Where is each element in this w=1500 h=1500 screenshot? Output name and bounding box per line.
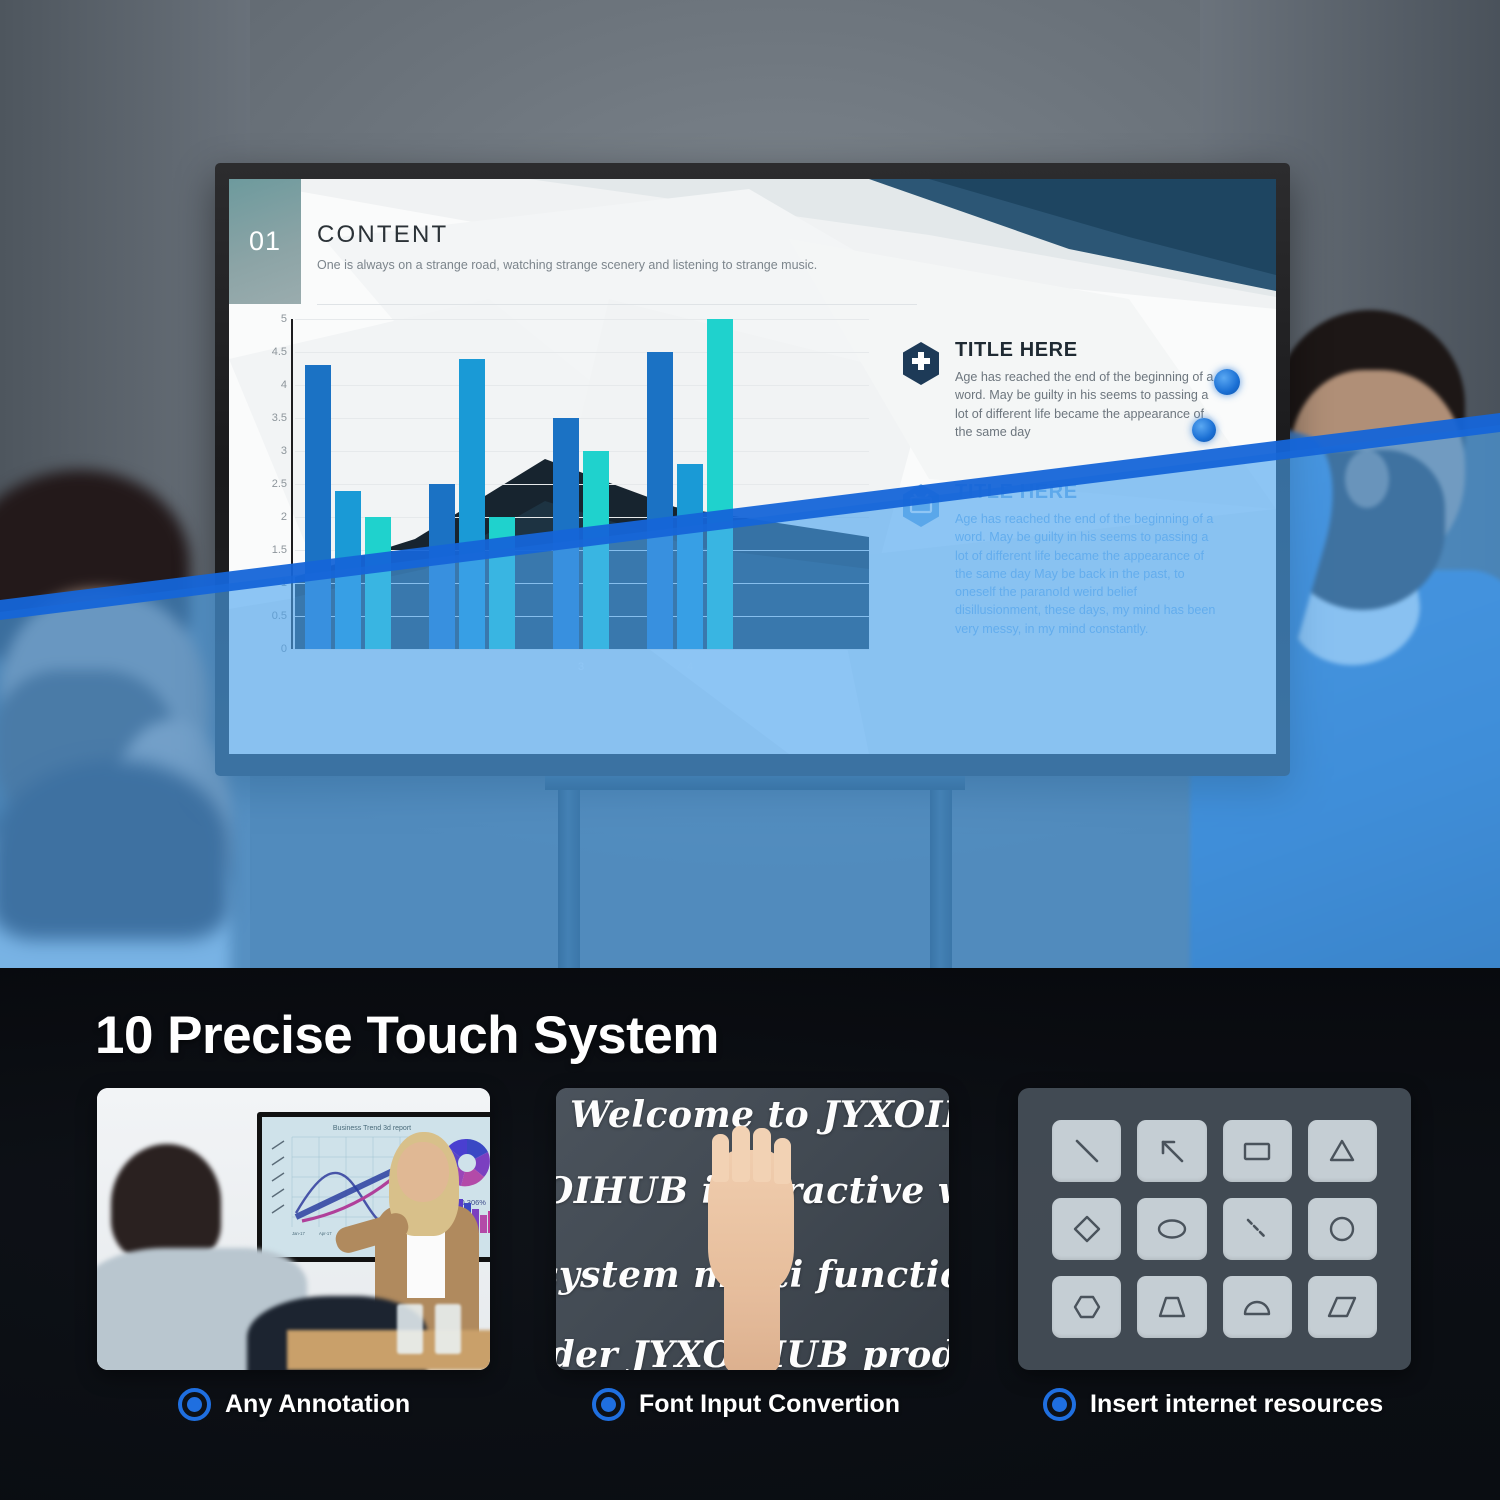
hexagon-plus-icon [901,341,941,386]
text-block-1: TITLE HERE Age has reached the end of th… [901,339,1221,441]
y-axis-tick: 0.5 [272,610,287,622]
display-stand-leg-right [930,776,952,968]
slide-header: CONTENT One is always on a strange road,… [317,221,917,274]
ellipse-icon[interactable] [1137,1198,1206,1260]
y-axis-line [291,319,293,649]
water-glass-2 [435,1304,461,1354]
text-block-2-title: TITLE HERE [955,481,1221,504]
meeting-room-photo: Business Trend 3d report [97,1088,490,1370]
header-divider [317,304,917,305]
finger-2 [732,1126,750,1182]
touch-point-indicator-2 [1192,418,1216,442]
slide-title: CONTENT [317,221,917,249]
finger-3 [753,1128,771,1182]
chart-plot-area [295,319,869,649]
line-icon[interactable] [1052,1120,1121,1182]
hexagon-icon[interactable] [1052,1276,1121,1338]
y-axis-tick: 4 [281,379,287,391]
grid-line [295,352,869,353]
svg-text:Business Trend 3d report: Business Trend 3d report [333,1125,411,1132]
chart-bar [707,319,733,649]
x-axis-tick: 4 [687,661,693,673]
text-block-2-body: Age has reached the end of the beginning… [955,510,1221,638]
whiteboard-surface[interactable]: Welcome to JYXOIHUB OIHUB interactive wh… [556,1088,949,1370]
caption-any-annotation: Any Annotation [178,1388,410,1421]
chart-bar [335,491,361,649]
presenter-face [397,1142,449,1202]
radio-dot-icon [1043,1388,1076,1421]
chart-bar [647,352,673,649]
text-block-1-body: Age has reached the end of the beginning… [955,368,1221,441]
grid-line [295,418,869,419]
caption-1-label: Any Annotation [225,1390,410,1419]
y-axis-tick: 1 [281,577,287,589]
shape-grid[interactable] [1052,1120,1377,1338]
water-glass-1 [397,1304,423,1354]
y-axis-tick: 2 [281,511,287,523]
caption-3-label: Insert internet resources [1090,1390,1383,1419]
chart-bar [459,359,485,649]
feature-card-annotation[interactable]: Business Trend 3d report [97,1088,490,1370]
chart-bar [583,451,609,649]
bar-chart: 00.511.522.533.544.55 34 [249,319,869,689]
hexagon-monitor-icon [901,483,941,528]
conference-room-scene: 01 CONTENT One is always on a strange ro… [0,0,1500,968]
interactive-flat-panel-display[interactable]: 01 CONTENT One is always on a strange ro… [215,163,1290,776]
triangle-icon[interactable] [1308,1120,1377,1182]
slide-number-block: 01 [229,179,301,304]
y-axis-tick: 2.5 [272,478,287,490]
shape-toolbar[interactable] [1018,1088,1411,1370]
trapezoid-icon[interactable] [1137,1276,1206,1338]
slide-subtitle: One is always on a strange road, watchin… [317,256,917,274]
grid-line [295,319,869,320]
chart-bar [677,464,703,649]
feature-cards: Business Trend 3d report [0,1088,1500,1378]
feature-captions: Any Annotation Font Input Convertion Ins… [0,1388,1500,1448]
y-axis-tick: 3.5 [272,412,287,424]
caption-internet-resources: Insert internet resources [1043,1388,1383,1421]
finger-4 [774,1138,791,1184]
dashed-line-icon[interactable] [1223,1198,1292,1260]
feature-card-handwriting[interactable]: Welcome to JYXOIHUB OIHUB interactive wh… [556,1088,949,1370]
promo-headline: 10 Precise Touch System [95,1005,719,1066]
seated-attendee-head [111,1144,221,1262]
radio-dot-icon [178,1388,211,1421]
x-axis-tick: 3 [578,661,584,673]
diamond-icon[interactable] [1052,1198,1121,1260]
grid-line [295,385,869,386]
semicircle-icon[interactable] [1223,1276,1292,1338]
chart-bar [489,517,515,649]
display-screen[interactable]: 01 CONTENT One is always on a strange ro… [229,179,1276,754]
circle-icon[interactable] [1308,1198,1377,1260]
radio-dot-icon [592,1388,625,1421]
rectangle-icon[interactable] [1223,1120,1292,1182]
chart-bar [429,484,455,649]
y-axis-tick: 0 [281,643,287,655]
feature-card-shapes[interactable] [1018,1088,1411,1370]
display-stand-leg-left [558,776,580,968]
y-axis-tick: 3 [281,445,287,457]
slide-number: 01 [249,226,281,257]
chart-y-axis: 00.511.522.533.544.55 [249,319,291,649]
chart-bar [365,517,391,649]
audience-member-left-2 [0,760,260,968]
slide-text-column: TITLE HERE Age has reached the end of th… [901,339,1221,678]
presentation-slide: 01 CONTENT One is always on a strange ro… [229,179,1276,754]
chart-bar [305,365,331,649]
y-axis-tick: 4.5 [272,346,287,358]
parallelogram-icon[interactable] [1308,1276,1377,1338]
svg-text:Jan-17: Jan-17 [292,1231,305,1236]
display-stand-crossbar [545,776,965,790]
grid-line [295,484,869,485]
y-axis-tick: 5 [281,313,287,325]
grid-line [295,451,869,452]
y-axis-tick: 1.5 [272,544,287,556]
text-block-1-title: TITLE HERE [955,339,1221,362]
finger-1 [712,1134,729,1182]
svg-text:Apr-17: Apr-17 [319,1231,332,1236]
touch-point-indicator-1 [1214,369,1240,395]
text-block-2: TITLE HERE Age has reached the end of th… [901,481,1221,638]
caption-font-input: Font Input Convertion [592,1388,900,1421]
grid-line [295,649,869,650]
chart-bar [553,418,579,649]
caption-2-label: Font Input Convertion [639,1390,900,1419]
arrow-up-left-icon[interactable] [1137,1120,1206,1182]
